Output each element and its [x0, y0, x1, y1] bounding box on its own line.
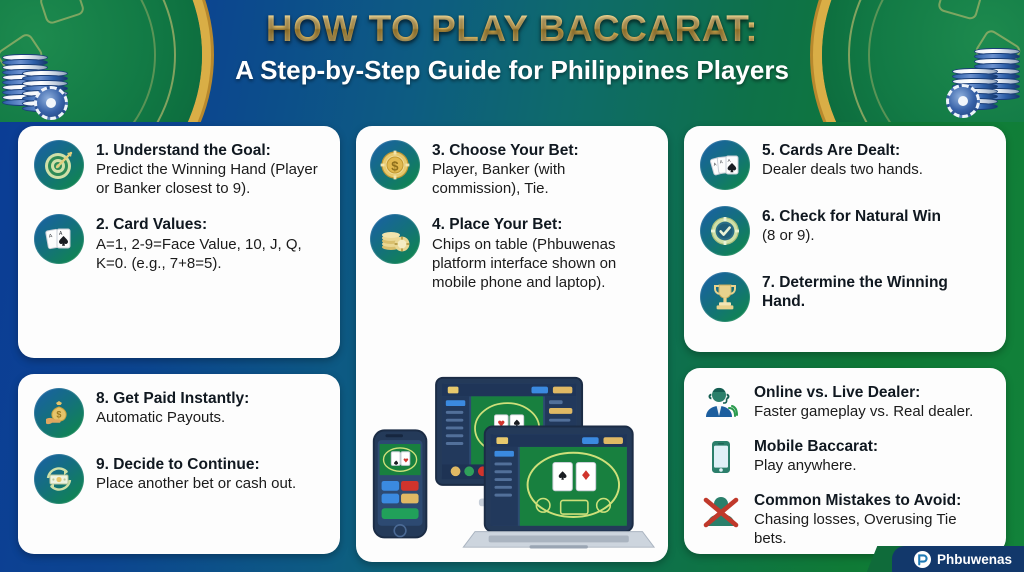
check-chip-icon [700, 206, 750, 256]
chip-token-left [34, 86, 68, 120]
item-text: Chasing losses, Overusing Tie bets. [754, 510, 990, 548]
phbuwenas-logo-icon [914, 551, 931, 568]
card-tips: Online vs. Live Dealer: Faster gameplay … [684, 368, 1006, 554]
item-title: 3. Choose Your Bet: [432, 141, 654, 160]
list-item: $ 8. Get Paid Instantly: Automatic Payou… [34, 388, 324, 438]
header-banner: BANKER BACCARAT HOW TO PLAY BACCARAT: A … [0, 0, 1024, 122]
card-steps-3-4: $ 3. Choose Your Bet: Player, Banker (wi… [356, 126, 668, 562]
list-item: Online vs. Live Dealer: Faster gameplay … [700, 382, 990, 424]
dollar-chip-icon: $ [370, 140, 420, 190]
chip-token-right [946, 84, 980, 118]
item-title: Common Mistakes to Avoid: [754, 491, 990, 510]
item-title: 8. Get Paid Instantly: [96, 389, 324, 408]
item-text: Chips on table (Phbuwenas platform inter… [432, 235, 654, 292]
list-item: 7. Determine the Winning Hand. [700, 272, 990, 322]
item-text: Predict the Winning Hand (Player or Bank… [96, 160, 324, 198]
devices-mockup [366, 365, 658, 560]
item-title: 4. Place Your Bet: [432, 215, 654, 234]
item-text: Automatic Payouts. [96, 408, 324, 427]
content-grid: 1. Understand the Goal: Predict the Winn… [0, 122, 1024, 572]
item-title: 2. Card Values: [96, 215, 324, 234]
list-item: Mobile Baccarat: Play anywhere. [700, 436, 990, 478]
playing-cards-icon: A A [34, 214, 84, 264]
item-text: A=1, 2-9=Face Value, 10, J, Q, K=0. (e.g… [96, 235, 324, 273]
svg-text:A: A [728, 158, 731, 163]
live-dealer-headset-icon [700, 382, 742, 424]
item-text: Dealer deals two hands. [762, 160, 990, 179]
infographic-canvas: BANKER BACCARAT HOW TO PLAY BACCARAT: A … [0, 0, 1024, 572]
item-title: 9. Decide to Continue: [96, 455, 324, 474]
list-item: 1. Understand the Goal: Predict the Winn… [34, 140, 324, 198]
list-item: A A A 5. Cards Are Dealt: Dealer deals t… [700, 140, 990, 190]
money-bag-hand-icon: $ [34, 388, 84, 438]
item-title: Online vs. Live Dealer: [754, 383, 990, 402]
cash-recycle-icon [34, 454, 84, 504]
item-text: Place another bet or cash out. [96, 474, 324, 493]
item-title: Mobile Baccarat: [754, 437, 990, 456]
page-subtitle: A Step-by-Step Guide for Philippines Pla… [0, 55, 1024, 86]
item-text: (8 or 9). [762, 226, 990, 245]
svg-text:A: A [719, 159, 723, 164]
item-text: Player, Banker (with commission), Tie. [432, 160, 654, 198]
item-title: 1. Understand the Goal: [96, 141, 324, 160]
svg-text:$: $ [391, 159, 399, 174]
watermark[interactable]: Phbuwenas [892, 546, 1024, 572]
trophy-icon [700, 272, 750, 322]
card-steps-8-9: $ 8. Get Paid Instantly: Automatic Payou… [18, 374, 340, 554]
three-cards-icon: A A A [700, 140, 750, 190]
mobile-phone-icon [700, 436, 742, 478]
item-title: 7. Determine the Winning Hand. [762, 273, 990, 311]
page-title: HOW TO PLAY BACCARAT: [0, 8, 1024, 50]
card-steps-1-2: 1. Understand the Goal: Predict the Winn… [18, 126, 340, 358]
target-icon [34, 140, 84, 190]
item-title: 5. Cards Are Dealt: [762, 141, 990, 160]
item-title: 6. Check for Natural Win [762, 207, 990, 226]
item-text: Faster gameplay vs. Real dealer. [754, 402, 990, 421]
chip-stack-icon [370, 214, 420, 264]
list-item: 9. Decide to Continue: Place another bet… [34, 454, 324, 504]
list-item: 4. Place Your Bet: Chips on table (Phbuw… [370, 214, 654, 291]
watermark-brand: Phbuwenas [937, 552, 1012, 567]
list-item: Common Mistakes to Avoid: Chasing losses… [700, 490, 990, 548]
list-item: 6. Check for Natural Win (8 or 9). [700, 206, 990, 256]
list-item: $ 3. Choose Your Bet: Player, Banker (wi… [370, 140, 654, 198]
item-text: Play anywhere. [754, 456, 990, 475]
svg-text:$: $ [56, 409, 61, 419]
card-steps-5-6-7: A A A 5. Cards Are Dealt: Dealer deals t… [684, 126, 1006, 352]
list-item: A A 2. Card Values: A=1, 2-9=Face Value,… [34, 214, 324, 272]
no-person-cross-icon [700, 490, 742, 532]
